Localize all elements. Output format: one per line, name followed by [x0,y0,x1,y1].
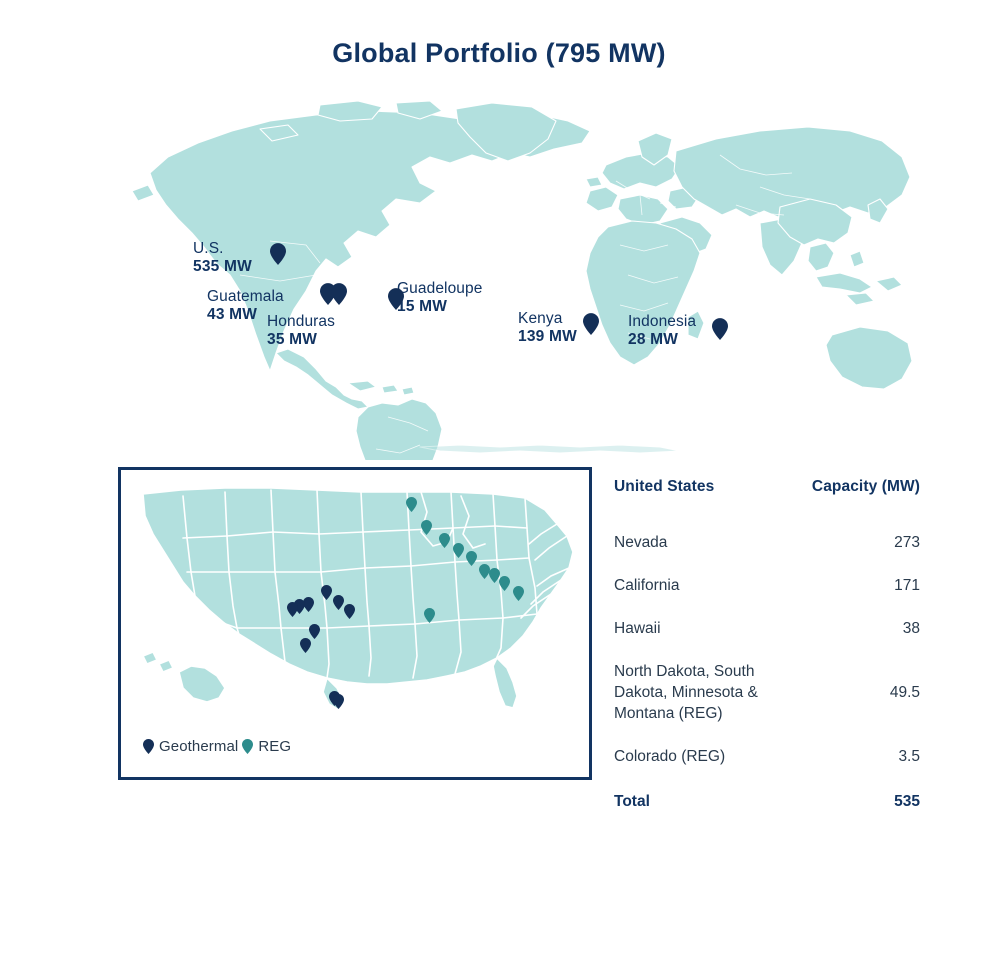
table-row: Colorado (REG)3.5 [614,736,920,779]
map-label-indonesia: Indonesia28 MW [628,313,696,350]
world-map [120,95,920,460]
inset-pin-reg [421,520,432,540]
table-header-row: United States Capacity (MW) [614,478,920,522]
location-name: U.S. [193,240,252,258]
inset-pin-reg [499,576,510,596]
cell-capacity: 171 [810,565,920,608]
table-row: California171 [614,565,920,608]
inset-pin-geothermal [344,604,355,624]
map-pin-icon [344,604,355,619]
cell-state: North Dakota, South Dakota, Minnesota & … [614,651,810,736]
inset-legend: Geothermal REG [143,738,291,755]
inset-pin-geothermal [300,638,311,658]
table-body: Nevada273California171Hawaii38North Dako… [614,522,920,824]
map-pin-icon [333,694,344,709]
legend-item-reg: REG [242,738,291,755]
location-capacity: 15 MW [397,298,482,316]
map-pin-icon [513,586,524,601]
map-pin-indonesia [712,318,728,345]
cell-state: Nevada [614,522,810,565]
inset-pin-geothermal [321,585,332,605]
location-name: Indonesia [628,313,696,331]
inset-pin-reg [406,497,417,517]
location-name: Kenya [518,310,577,328]
cell-state: Hawaii [614,608,810,651]
map-pin-honduras [331,283,347,310]
column-header-state: United States [614,478,810,522]
legend-label-geothermal: Geothermal [159,738,238,755]
map-pin-icon [331,283,347,305]
legend-label-reg: REG [258,738,291,755]
map-pin-icon [321,585,332,600]
table-row: North Dakota, South Dakota, Minnesota & … [614,651,920,736]
location-capacity: 535 MW [193,258,252,276]
map-pin-icon [466,551,477,566]
map-pin-icon [439,533,450,548]
table-row: Hawaii38 [614,608,920,651]
page-title: Global Portfolio (795 MW) [0,38,998,69]
inset-pin-reg [453,543,464,563]
inset-pin-geothermal [333,595,344,615]
inset-pin-reg [439,533,450,553]
cell-capacity: 49.5 [810,651,920,736]
map-pin-icon [287,602,298,617]
map-pin-icon [309,624,320,639]
cell-total-capacity: 535 [810,778,920,824]
column-header-capacity: Capacity (MW) [810,478,920,522]
map-pin-icon [424,608,435,623]
map-pin-icon [406,497,417,512]
map-pin-icon [453,543,464,558]
location-capacity: 35 MW [267,331,335,349]
map-label-kenya: Kenya139 MW [518,310,577,347]
map-label-us: U.S.535 MW [193,240,252,277]
map-pin-icon [143,739,154,754]
location-capacity: 28 MW [628,331,696,349]
location-name: Guadeloupe [397,280,482,298]
us-capacity-table: United States Capacity (MW) Nevada273Cal… [614,478,920,824]
world-map-graphic [120,95,920,460]
legend-item-geothermal: Geothermal [143,738,238,755]
inset-pin-reg [424,608,435,628]
map-pin-icon [333,595,344,610]
map-pin-icon [388,288,404,310]
inset-pin-reg [513,586,524,606]
inset-pin-geothermal [333,694,344,714]
map-pin-icon [242,739,253,754]
map-pin-icon [583,313,599,335]
location-capacity: 139 MW [518,328,577,346]
map-pin-guadeloupe [388,288,404,315]
inset-pin-geothermal [287,602,298,622]
map-label-honduras: Honduras35 MW [267,313,335,350]
map-pin-icon [421,520,432,535]
cell-capacity: 3.5 [810,736,920,779]
cell-state: Colorado (REG) [614,736,810,779]
cell-capacity: 273 [810,522,920,565]
table-row: Nevada273 [614,522,920,565]
map-pin-icon [300,638,311,653]
map-pin-kenya [583,313,599,340]
cell-state: California [614,565,810,608]
cell-capacity: 38 [810,608,920,651]
map-pin-us [270,243,286,270]
map-label-guadeloupe: Guadeloupe15 MW [397,280,482,317]
location-name: Guatemala [207,288,284,306]
map-pin-icon [270,243,286,265]
us-inset-map: Geothermal REG [118,467,592,780]
capacity-table-element: United States Capacity (MW) Nevada273Cal… [614,478,920,824]
us-map-container [121,476,589,726]
map-pin-icon [499,576,510,591]
cell-total-label: Total [614,778,810,824]
location-name: Honduras [267,313,335,331]
map-pin-icon [712,318,728,340]
table-total-row: Total535 [614,778,920,824]
inset-pin-reg [466,551,477,571]
